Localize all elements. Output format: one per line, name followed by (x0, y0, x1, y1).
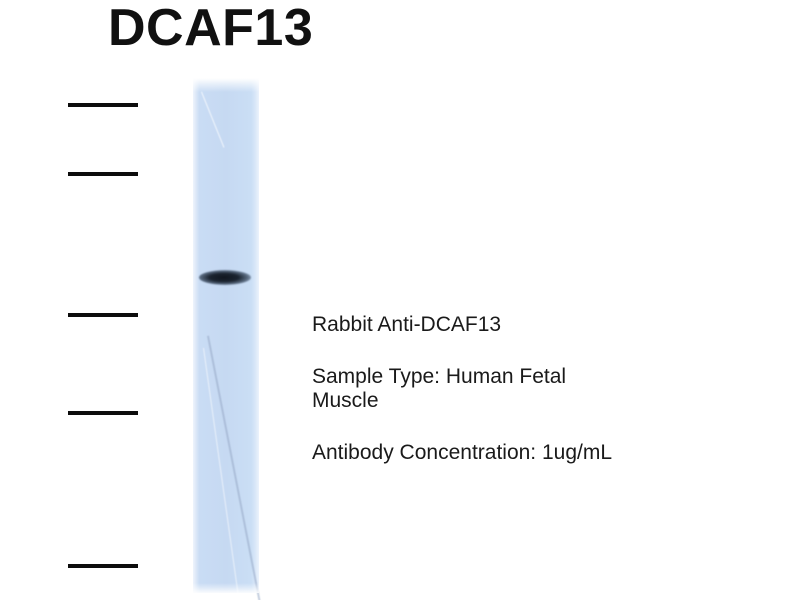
annotation-sample-type: Sample Type: Human Fetal (312, 365, 762, 389)
gel-lane-bottom-fade (193, 583, 259, 593)
gel-artifact-streak-main (207, 336, 260, 600)
gel-lane-top-fade (193, 78, 259, 92)
annotation-antibody-concentration: Antibody Concentration: 1ug/mL (312, 441, 762, 465)
mw-marker-dash (68, 172, 138, 176)
western-blot-figure: DCAF13 90 65 40 31 22 Rabbit Anti-DCAF13… (0, 0, 800, 600)
page-title: DCAF13 (108, 0, 313, 56)
mw-marker-dash (68, 564, 138, 568)
annotation-sample-type-continued: Muscle (312, 389, 762, 413)
gel-artifact-streak-secondary (203, 348, 239, 596)
annotation-antibody: Rabbit Anti-DCAF13 (312, 313, 762, 337)
gel-artifact-streak-upper (201, 92, 225, 148)
mw-marker-dash (68, 103, 138, 107)
annotation-block: Rabbit Anti-DCAF13 Sample Type: Human Fe… (312, 313, 762, 465)
protein-band (199, 270, 251, 285)
mw-marker-dash (68, 313, 138, 317)
mw-marker-dash (68, 411, 138, 415)
gel-lane (193, 78, 259, 593)
